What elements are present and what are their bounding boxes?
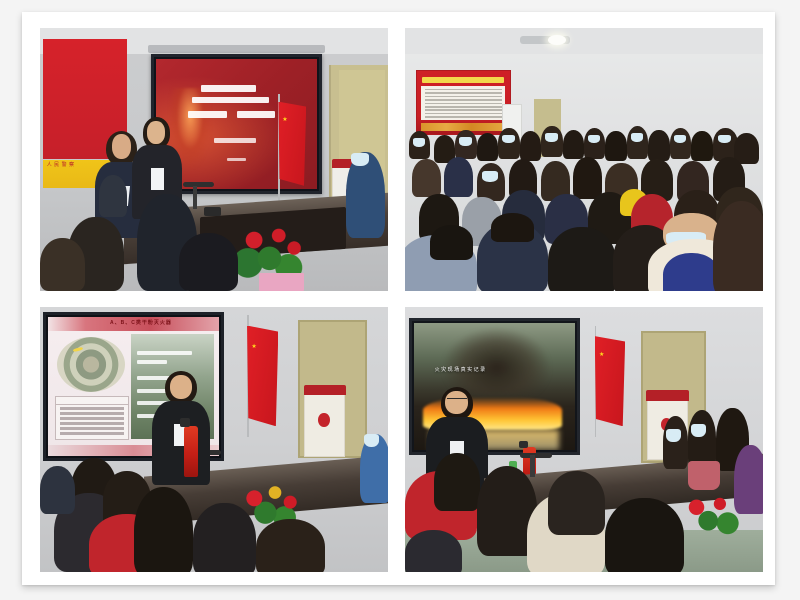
smoke-plume bbox=[443, 328, 550, 394]
board-row bbox=[425, 113, 502, 115]
flag-star: ★ bbox=[599, 352, 604, 358]
chinese-flag: ★ bbox=[595, 336, 625, 426]
face-mask bbox=[351, 153, 368, 166]
slide-presenter-line bbox=[214, 138, 256, 143]
diagram-gauge-marker bbox=[72, 347, 82, 353]
audience-member bbox=[179, 233, 238, 291]
audience-member bbox=[605, 498, 684, 572]
face-mask bbox=[413, 138, 425, 147]
audience-member bbox=[663, 416, 688, 469]
face-mask bbox=[545, 133, 557, 142]
ceiling-light bbox=[548, 35, 566, 46]
microphone-head bbox=[520, 453, 552, 458]
presenter-shirt bbox=[151, 168, 164, 190]
table-row bbox=[60, 422, 125, 424]
ceiling bbox=[405, 28, 763, 54]
flower-arrangement bbox=[677, 493, 741, 535]
screen-roller-bar bbox=[148, 45, 325, 53]
chinese-flag: ★ bbox=[278, 102, 306, 186]
photo-top-left[interactable]: 人 民 警 察 ★ bbox=[40, 28, 388, 291]
podium-emblem bbox=[318, 413, 329, 427]
podium-top bbox=[646, 390, 689, 400]
podium-top bbox=[304, 385, 346, 396]
audience-crowd bbox=[405, 117, 763, 291]
presenter-face bbox=[147, 121, 165, 143]
instructor-head bbox=[441, 387, 473, 420]
photo-grid: 人 民 警 察 ★ bbox=[40, 28, 763, 572]
instructor-face bbox=[445, 391, 468, 414]
audience-member bbox=[405, 530, 462, 572]
slide-subtitle-right bbox=[237, 111, 276, 118]
slide-date-line bbox=[227, 158, 246, 162]
table-row bbox=[60, 432, 125, 434]
extinguisher-nozzle bbox=[180, 418, 190, 427]
table-row bbox=[60, 427, 125, 429]
audience-member bbox=[193, 503, 256, 572]
table-row bbox=[60, 407, 125, 409]
audience-member bbox=[563, 130, 584, 160]
audience-member-foreground bbox=[548, 227, 616, 291]
audience-member bbox=[520, 131, 541, 161]
fire-extinguisher bbox=[184, 426, 198, 476]
audience-member bbox=[691, 131, 712, 161]
audience-member bbox=[627, 126, 648, 159]
face-mask bbox=[459, 137, 471, 146]
audience-member bbox=[548, 471, 605, 535]
wall-banner-text: 人 民 警 察 bbox=[47, 162, 75, 168]
collage-canvas: 人 民 警 察 ★ bbox=[0, 0, 800, 600]
microphone-stem bbox=[193, 186, 197, 210]
table-row bbox=[60, 417, 125, 419]
slide-header-title: A、B、C类干粉灭火器 bbox=[110, 319, 172, 326]
audience-head bbox=[430, 225, 473, 260]
slide-title-line-2 bbox=[192, 97, 269, 103]
handbag bbox=[688, 461, 720, 490]
audience-member bbox=[256, 519, 326, 572]
face-mask bbox=[502, 135, 514, 144]
flower-arrangement bbox=[231, 223, 308, 281]
chinese-flag: ★ bbox=[247, 326, 278, 427]
audience-member bbox=[541, 126, 562, 157]
audience-member bbox=[477, 133, 498, 161]
microphone-head bbox=[183, 182, 214, 187]
photo-card: 人 民 警 察 ★ bbox=[22, 12, 775, 585]
audience-member bbox=[670, 128, 691, 159]
flag-star: ★ bbox=[282, 117, 287, 123]
video-subtitle: 火灾现场真实记录 bbox=[435, 366, 487, 373]
audience-member bbox=[134, 487, 193, 572]
audience-member bbox=[40, 466, 75, 514]
photo-bottom-left[interactable]: A、B、C类干粉灭火器 bbox=[40, 307, 388, 572]
glasses-icon bbox=[447, 398, 467, 402]
microphone-base bbox=[204, 207, 221, 216]
face-mask bbox=[482, 171, 498, 181]
board-row bbox=[425, 96, 502, 98]
extinguisher-diagram bbox=[57, 337, 125, 392]
slide-subtitle-left bbox=[188, 111, 227, 118]
board-row bbox=[425, 109, 502, 111]
photo-top-right[interactable] bbox=[405, 28, 763, 291]
board-row bbox=[425, 103, 502, 105]
audience-vest bbox=[663, 253, 720, 291]
board-row bbox=[425, 99, 502, 101]
board-chart-sheet bbox=[421, 86, 505, 120]
audience-member bbox=[99, 175, 127, 217]
board-row bbox=[425, 92, 502, 94]
audience-member bbox=[573, 157, 602, 199]
audience-head bbox=[491, 213, 534, 243]
audience-member bbox=[688, 410, 717, 468]
board-title-strip bbox=[422, 77, 504, 83]
table-header bbox=[56, 397, 128, 405]
usage-title-line bbox=[137, 351, 192, 355]
audience-member bbox=[477, 163, 506, 201]
audience-member bbox=[648, 130, 669, 161]
slide-title-line-1 bbox=[201, 85, 256, 91]
face-mask bbox=[631, 133, 643, 142]
instructor-head bbox=[165, 371, 196, 404]
microphone-stem bbox=[530, 455, 534, 476]
face-mask bbox=[666, 429, 680, 442]
audience-member bbox=[734, 445, 763, 514]
presenter-face bbox=[112, 134, 131, 159]
board-row bbox=[425, 89, 502, 91]
flag-star: ★ bbox=[251, 344, 256, 350]
slide-spec-table bbox=[55, 396, 129, 440]
face-mask bbox=[691, 424, 705, 437]
audience-member bbox=[434, 453, 481, 511]
audience-member bbox=[584, 128, 605, 159]
audience-member bbox=[444, 157, 473, 197]
audience-member bbox=[498, 128, 519, 159]
instructor-body bbox=[152, 401, 210, 486]
usage-subtitle-line bbox=[137, 360, 167, 364]
tissue-box bbox=[259, 273, 304, 291]
audience-member bbox=[412, 159, 441, 197]
table-row bbox=[60, 412, 125, 414]
podium bbox=[304, 392, 344, 458]
instructor-face bbox=[170, 375, 192, 399]
audience-member bbox=[605, 131, 626, 161]
audience-member bbox=[40, 238, 85, 291]
audience-member-foreground bbox=[713, 201, 763, 291]
extinguisher-nozzle bbox=[519, 441, 528, 449]
photo-bottom-right[interactable]: 火灾现场真实记录 ★ bbox=[405, 307, 763, 572]
board-row bbox=[425, 106, 502, 108]
